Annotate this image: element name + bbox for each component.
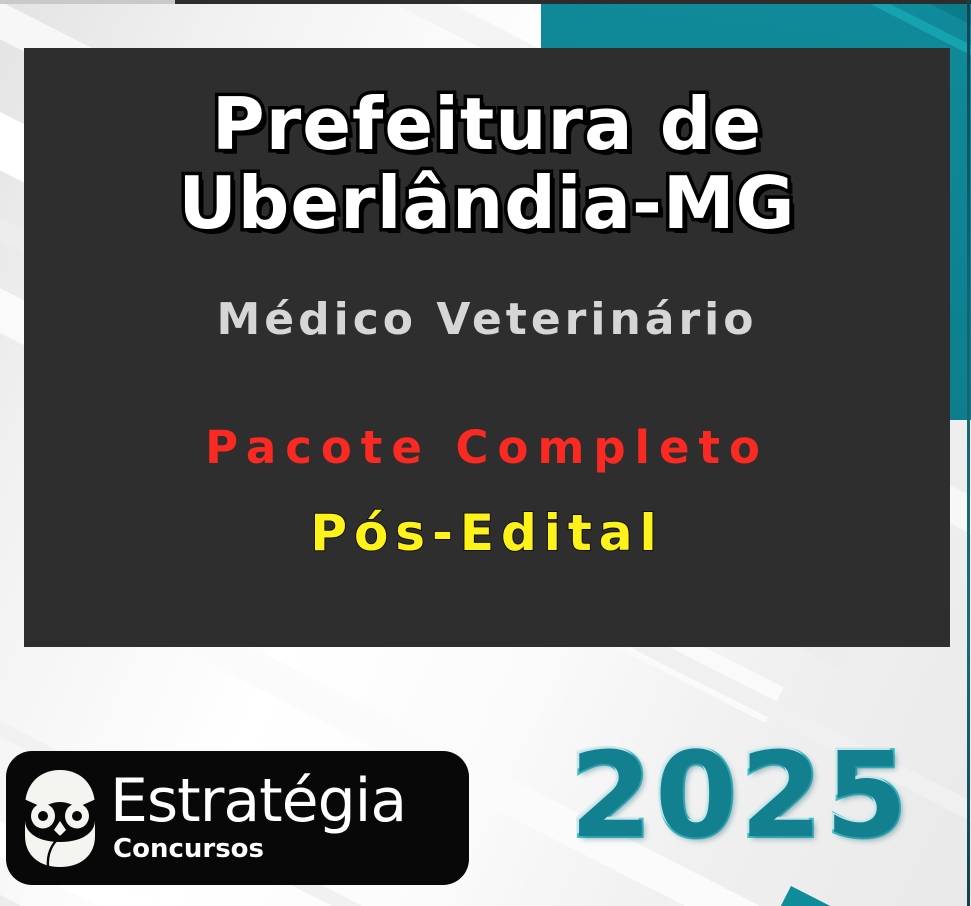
brand-name: Estratégia — [110, 773, 406, 830]
package-label: Pacote Completo — [205, 421, 769, 474]
top-edge-strip-light — [0, 0, 175, 4]
teal-wedge-br-main — [700, 886, 971, 906]
role-subtitle: Médico Veterinário — [216, 294, 757, 345]
year-label: 2025 — [530, 726, 950, 864]
page-title-line-2: Uberlândia-MG — [178, 165, 795, 242]
content-panel: Prefeitura de Uberlândia-MG Médico Veter… — [24, 48, 950, 647]
owl-icon — [14, 751, 106, 885]
brand-logo-badge[interactable]: Estratégia Concursos — [6, 751, 469, 885]
phase-label: Pós-Edital — [310, 504, 663, 562]
poster-canvas: Prefeitura de Uberlândia-MG Médico Veter… — [0, 0, 971, 906]
page-title-line-1: Prefeitura de — [212, 86, 762, 163]
right-edge-rule — [967, 0, 970, 906]
brand-logo-text: Estratégia Concursos — [110, 773, 406, 864]
brand-tagline: Concursos — [113, 834, 406, 864]
